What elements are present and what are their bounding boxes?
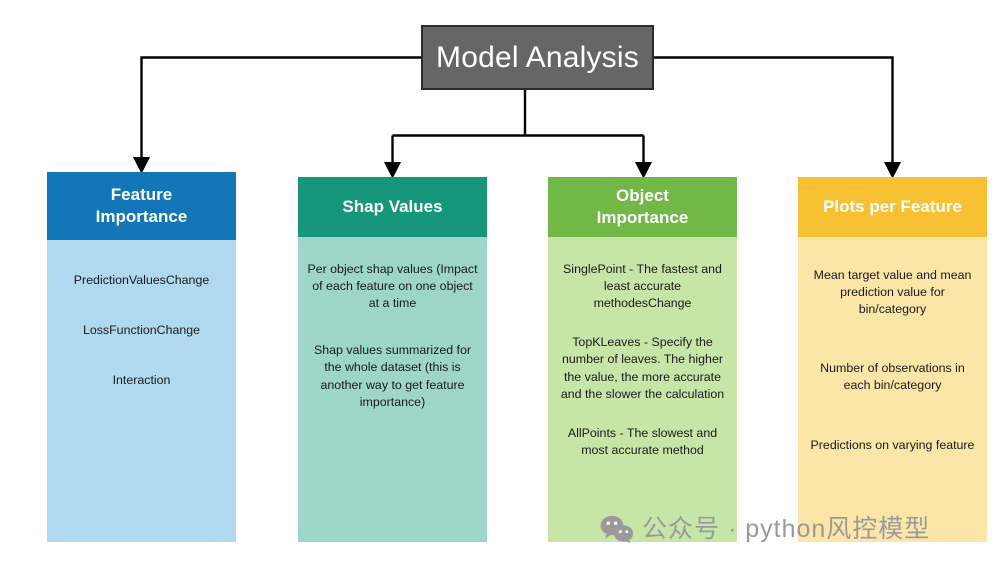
column-object-importance-body: SinglePoint - The fastest and least accu…	[548, 237, 737, 542]
column-feature-importance-title-line1: Feature	[111, 185, 172, 204]
list-item: Shap values summarized for the whole dat…	[307, 342, 478, 410]
list-item: SinglePoint - The fastest and least accu…	[557, 261, 728, 312]
list-item: PredictionValuesChange	[56, 272, 227, 289]
connector-to-plots-per-feature	[654, 58, 893, 171]
column-object-importance-header: Object Importance	[548, 177, 737, 237]
list-item: Interaction	[56, 372, 227, 389]
column-feature-importance-header: Feature Importance	[47, 172, 236, 240]
list-item: Number of observations in each bin/categ…	[807, 360, 978, 394]
connector-to-feature-importance	[142, 58, 422, 166]
column-plots-per-feature-title: Plots per Feature	[823, 196, 962, 218]
list-item: TopKLeaves - Specify the number of leave…	[557, 334, 728, 402]
column-object-importance[interactable]: Object Importance SinglePoint - The fast…	[548, 177, 737, 542]
list-item: LossFunctionChange	[56, 322, 227, 339]
column-shap-values-title: Shap Values	[342, 196, 442, 218]
column-feature-importance-body: PredictionValuesChange LossFunctionChang…	[47, 240, 236, 542]
column-shap-values-header: Shap Values	[298, 177, 487, 237]
list-item: Per object shap values (Impact of each f…	[307, 261, 478, 312]
list-item: Mean target value and mean prediction va…	[807, 267, 978, 318]
node-model-analysis-label: Model Analysis	[436, 43, 639, 73]
list-item: Predictions on varying feature	[807, 437, 978, 454]
column-feature-importance-title-line2: Importance	[96, 207, 188, 226]
column-shap-values-body: Per object shap values (Impact of each f…	[298, 237, 487, 542]
column-plots-per-feature[interactable]: Plots per Feature Mean target value and …	[798, 177, 987, 542]
diagram-canvas: Model Analysis Feature Importance Predic…	[0, 0, 1003, 569]
node-model-analysis[interactable]: Model Analysis	[421, 25, 654, 90]
column-shap-values[interactable]: Shap Values Per object shap values (Impa…	[298, 177, 487, 542]
column-plots-per-feature-body: Mean target value and mean prediction va…	[798, 237, 987, 542]
column-object-importance-title-line1: Object	[616, 186, 669, 205]
column-feature-importance[interactable]: Feature Importance PredictionValuesChang…	[47, 172, 236, 542]
list-item: AllPoints - The slowest and most accurat…	[557, 425, 728, 459]
column-object-importance-title-line2: Importance	[597, 208, 689, 227]
column-plots-per-feature-header: Plots per Feature	[798, 177, 987, 237]
